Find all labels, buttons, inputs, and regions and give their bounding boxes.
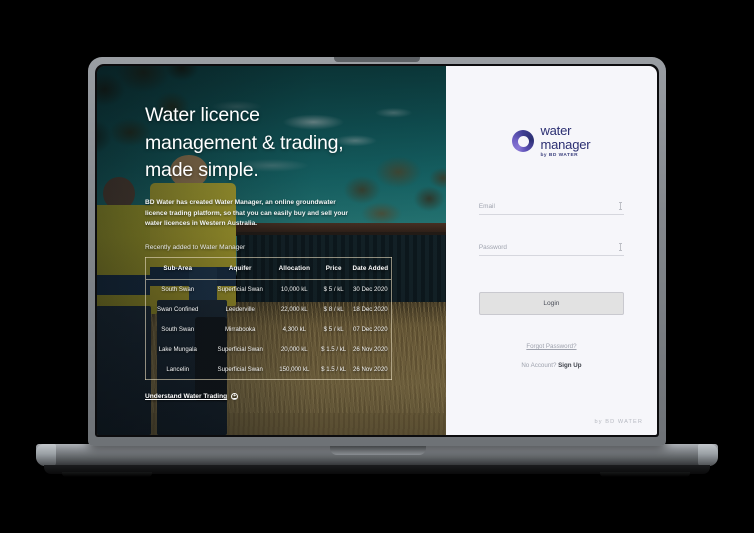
cell-allocation: 4,300 kL — [271, 320, 318, 340]
hero-headline-line-1: Water licence — [145, 104, 260, 126]
recently-added-label: Recently added to Water Manager — [145, 244, 416, 251]
cell-price: $ 8 / kL — [318, 300, 350, 320]
cell-aquifer: Mirrabooka — [209, 320, 271, 340]
laptop-lid: Water licence management & trading, made… — [88, 57, 666, 446]
understand-water-trading-label: Understand Water Trading — [145, 393, 227, 400]
text-cursor-icon — [618, 243, 624, 251]
password-field[interactable] — [479, 243, 624, 256]
table-row[interactable]: South Swan Superficial Swan 10,000 kL $ … — [146, 280, 392, 300]
column-header-sub-area: Sub-Area — [146, 258, 210, 280]
signup-row: No Account? Sign Up — [479, 362, 624, 369]
column-header-price: Price — [318, 258, 350, 280]
licence-table: Sub-Area Aquifer Allocation Price Date A… — [145, 257, 392, 380]
laptop-foot-right — [600, 472, 690, 477]
cell-sub-area: Swan Confined — [146, 300, 210, 320]
login-button[interactable]: Login — [479, 292, 624, 315]
laptop-hinge-notch — [334, 57, 420, 62]
sign-up-link[interactable]: Sign Up — [558, 362, 581, 369]
understand-water-trading-link[interactable]: Understand Water Trading + — [145, 393, 416, 400]
password-input[interactable] — [479, 244, 597, 251]
cell-aquifer: Superficial Swan — [209, 280, 271, 300]
hero-headline: Water licence management & trading, made… — [145, 102, 416, 185]
cell-allocation: 150,000 kL — [271, 359, 318, 379]
cell-price: $ 1.5 / kL — [318, 359, 350, 379]
cell-date-added: 26 Nov 2020 — [350, 359, 392, 379]
column-header-allocation: Allocation — [271, 258, 318, 280]
brand-lockup: water manager by BD WATER — [512, 124, 590, 158]
brand-line-2: manager — [540, 138, 590, 151]
licence-table-body: South Swan Superficial Swan 10,000 kL $ … — [146, 280, 392, 380]
hero-headline-line-2: management & trading, — [145, 132, 344, 154]
cell-sub-area: Lancelin — [146, 359, 210, 379]
cell-aquifer: Superficial Swan — [209, 359, 271, 379]
table-row[interactable]: South Swan Mirrabooka 4,300 kL $ 5 / kL … — [146, 320, 392, 340]
app-screen: Water licence management & trading, made… — [97, 66, 657, 435]
laptop-base-groove — [330, 446, 426, 455]
cell-sub-area: South Swan — [146, 320, 210, 340]
login-panel: water manager by BD WATER — [446, 66, 657, 435]
cell-price: $ 5 / kL — [318, 280, 350, 300]
screenshot-stage: Water licence management & trading, made… — [0, 0, 754, 533]
panel-footer-credit: by BD WATER — [595, 419, 643, 425]
hero-subcopy: BD Water has created Water Manager, an o… — [145, 198, 350, 230]
cell-aquifer: Superficial Swan — [209, 339, 271, 359]
cell-date-added: 26 Nov 2020 — [350, 339, 392, 359]
cell-allocation: 20,000 kL — [271, 339, 318, 359]
login-form: Login Forgot Password? No Account? Sign … — [479, 202, 624, 369]
cell-aquifer: Leederville — [209, 300, 271, 320]
table-row[interactable]: Lancelin Superficial Swan 150,000 kL $ 1… — [146, 359, 392, 379]
cell-price: $ 5 / kL — [318, 320, 350, 340]
laptop-base-cap-left — [36, 444, 56, 466]
hero-content: Water licence management & trading, made… — [97, 66, 446, 400]
forgot-password-link[interactable]: Forgot Password? — [526, 343, 576, 350]
cell-price: $ 1.5 / kL — [318, 339, 350, 359]
cell-date-added: 18 Dec 2020 — [350, 300, 392, 320]
plus-circle-icon: + — [231, 393, 238, 400]
email-input[interactable] — [479, 203, 597, 210]
laptop-foot-left — [62, 472, 152, 477]
laptop-screen-bezel: Water licence management & trading, made… — [95, 64, 659, 437]
brand-wordmark: water manager by BD WATER — [540, 124, 590, 158]
brand-line-1: water — [540, 124, 590, 137]
text-cursor-icon — [618, 202, 624, 210]
licence-table-header-row: Sub-Area Aquifer Allocation Price Date A… — [146, 258, 392, 280]
cell-allocation: 22,000 kL — [271, 300, 318, 320]
cell-allocation: 10,000 kL — [271, 280, 318, 300]
water-ring-logo-icon — [512, 130, 534, 152]
column-header-date-added: Date Added — [350, 258, 392, 280]
column-header-aquifer: Aquifer — [209, 258, 271, 280]
table-row[interactable]: Lake Mungala Superficial Swan 20,000 kL … — [146, 339, 392, 359]
cell-sub-area: South Swan — [146, 280, 210, 300]
cell-date-added: 30 Dec 2020 — [350, 280, 392, 300]
hero-headline-line-3: made simple. — [145, 159, 259, 181]
login-links: Forgot Password? No Account? Sign Up — [479, 335, 624, 369]
brand-tagline: by BD WATER — [540, 154, 590, 159]
table-row[interactable]: Swan Confined Leederville 22,000 kL $ 8 … — [146, 300, 392, 320]
no-account-label: No Account? — [521, 362, 556, 369]
email-field[interactable] — [479, 202, 624, 215]
laptop-base-cap-right — [698, 444, 718, 466]
cell-sub-area: Lake Mungala — [146, 339, 210, 359]
cell-date-added: 07 Dec 2020 — [350, 320, 392, 340]
hero-panel: Water licence management & trading, made… — [97, 66, 446, 435]
